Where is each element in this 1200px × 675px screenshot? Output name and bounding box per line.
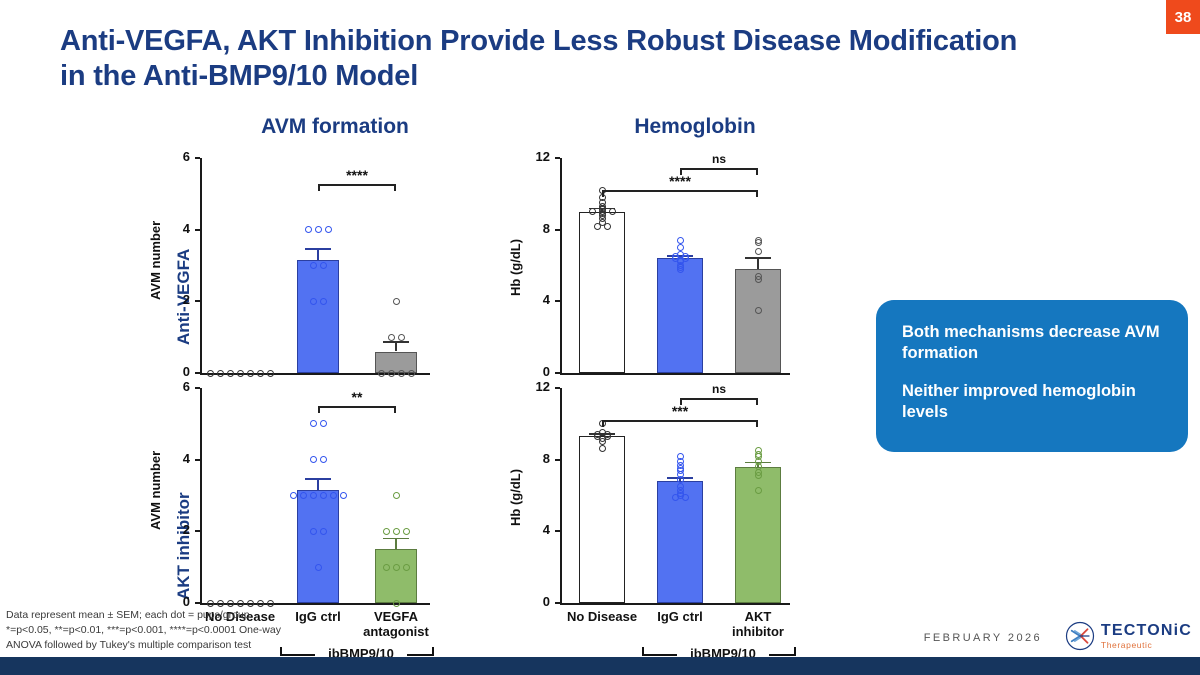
data-point [393, 600, 400, 607]
data-point [408, 370, 415, 377]
data-point [320, 456, 327, 463]
data-point [755, 239, 762, 246]
data-point [599, 438, 606, 445]
data-point [310, 528, 317, 535]
y-tick [555, 300, 560, 302]
data-point [217, 370, 224, 377]
data-point [393, 528, 400, 535]
data-point [237, 600, 244, 607]
y-axis-title: Hb (g/dL) [508, 469, 523, 526]
footer-bar [0, 657, 1200, 675]
column-title-avm: AVM formation [200, 115, 470, 139]
data-point [257, 600, 264, 607]
data-point [755, 487, 762, 494]
data-point [677, 476, 684, 483]
bar-akt-inhibitor [375, 549, 417, 603]
data-point [310, 492, 317, 499]
y-tick [555, 387, 560, 389]
data-point [378, 370, 385, 377]
error-bar-cap [745, 257, 771, 259]
data-point [383, 564, 390, 571]
data-point [388, 370, 395, 377]
page-title: Anti-VEGFA, AKT Inhibition Provide Less … [60, 24, 1020, 95]
data-point [267, 600, 274, 607]
data-point [290, 492, 297, 499]
footnote-line-3: ANOVA followed by Tukey's multiple compa… [6, 638, 281, 653]
data-point [320, 528, 327, 535]
bar-igg-ctrl [297, 260, 339, 373]
y-tick [555, 372, 560, 374]
data-point [393, 298, 400, 305]
data-point [682, 494, 689, 501]
chart-avm-formation-anti-vegfa: 0246AVM number **** [200, 158, 430, 379]
data-point [315, 226, 322, 233]
data-point [594, 223, 601, 230]
y-tick [555, 229, 560, 231]
data-point [300, 492, 307, 499]
footer-date: FEBRUARY 2026 [924, 632, 1042, 644]
y-tick [195, 229, 200, 231]
y-tick [195, 372, 200, 374]
y-axis [200, 158, 202, 373]
y-tick-label: 6 [168, 379, 190, 394]
significance-label: ns [680, 152, 758, 166]
error-bar [317, 248, 319, 260]
y-tick-label: 0 [528, 594, 550, 609]
bar-no-disease [579, 212, 625, 373]
data-point [755, 307, 762, 314]
data-point [599, 445, 606, 452]
error-bar-cap [305, 248, 331, 250]
data-point [755, 276, 762, 283]
data-point [388, 334, 395, 341]
y-tick [195, 157, 200, 159]
data-point [310, 298, 317, 305]
data-point [677, 266, 684, 273]
data-point [398, 370, 405, 377]
data-point [257, 370, 264, 377]
data-point [589, 208, 596, 215]
callout-line-1: Both mechanisms decrease AVM formation [902, 322, 1162, 364]
x-axis-label: AKTinhibitor [706, 610, 810, 640]
data-point [755, 472, 762, 479]
y-tick [195, 387, 200, 389]
y-tick-label: 6 [168, 149, 190, 164]
y-tick [195, 602, 200, 604]
logo-main-text: TECTONiC [1101, 623, 1192, 639]
data-point [393, 492, 400, 499]
y-tick-label: 0 [168, 594, 190, 609]
y-tick-label: 2 [168, 522, 190, 537]
data-point [677, 237, 684, 244]
y-tick [195, 300, 200, 302]
data-point [227, 600, 234, 607]
data-point [207, 370, 214, 377]
row-label-akt-inhibitor: AKT inhibitor [174, 492, 194, 600]
callout-box: Both mechanisms decrease AVM formation N… [876, 300, 1188, 452]
data-point [383, 528, 390, 535]
error-bar [317, 478, 319, 490]
y-tick [555, 157, 560, 159]
chart-hemoglobin-anti-vegfa: 04812Hb (g/dL) **** ns [560, 158, 790, 379]
data-point [320, 492, 327, 499]
x-axis [200, 373, 430, 375]
data-point [267, 370, 274, 377]
logo-text: TECTONiC Therapeutic [1101, 623, 1192, 650]
error-bar-cap [383, 341, 409, 343]
company-logo: TECTONiC Therapeutic [1065, 621, 1192, 651]
y-tick-label: 0 [168, 364, 190, 379]
data-point [237, 370, 244, 377]
error-bar-cap [383, 538, 409, 540]
data-point [320, 262, 327, 269]
y-axis [200, 388, 202, 603]
data-point [330, 492, 337, 499]
data-point [604, 223, 611, 230]
data-point [755, 248, 762, 255]
significance-label: **** [318, 167, 396, 183]
data-point [310, 456, 317, 463]
callout-line-2: Neither improved hemoglobin levels [902, 381, 1162, 423]
bar-igg-ctrl [657, 258, 703, 373]
y-tick-label: 8 [528, 451, 550, 466]
significance-label: **** [602, 173, 758, 189]
data-point [207, 600, 214, 607]
chart-hemoglobin-akt-inhibitor: 04812Hb (g/dL) *** nsNo DiseaseIgG ctrlA… [560, 388, 790, 673]
y-tick-label: 2 [168, 292, 190, 307]
data-point [393, 564, 400, 571]
data-point [403, 528, 410, 535]
data-point [340, 492, 347, 499]
bar-no-disease [579, 436, 625, 603]
y-tick-label: 12 [528, 379, 550, 394]
bar-vegfa-antagonist [735, 269, 781, 373]
bar-igg-ctrl [297, 490, 339, 603]
tectonic-mark-icon [1065, 621, 1095, 651]
footnote-line-2: *=p<0.05, **=p<0.01, ***=p<0.001, ****=p… [6, 623, 281, 638]
data-point [609, 208, 616, 215]
y-tick-label: 4 [168, 451, 190, 466]
y-axis [560, 158, 562, 373]
data-point [217, 600, 224, 607]
y-tick-label: 8 [528, 221, 550, 236]
y-axis-title: AVM number [148, 450, 163, 529]
y-tick-label: 4 [168, 221, 190, 236]
slide-root: 38 Anti-VEGFA, AKT Inhibition Provide Le… [0, 0, 1200, 675]
y-tick-label: 12 [528, 149, 550, 164]
data-point [320, 298, 327, 305]
data-point [310, 420, 317, 427]
data-point [315, 564, 322, 571]
data-point [398, 334, 405, 341]
data-point [305, 226, 312, 233]
y-tick [555, 530, 560, 532]
data-point [325, 226, 332, 233]
x-axis [560, 373, 790, 375]
y-tick-label: 4 [528, 522, 550, 537]
error-bar [757, 257, 759, 269]
data-point [247, 370, 254, 377]
y-tick-label: 0 [528, 364, 550, 379]
y-tick-label: 4 [528, 292, 550, 307]
data-point [310, 262, 317, 269]
bar-igg-ctrl [657, 481, 703, 603]
y-tick [195, 530, 200, 532]
y-axis-title: AVM number [148, 220, 163, 299]
data-point [320, 420, 327, 427]
significance-label: ** [318, 389, 396, 405]
y-tick [195, 459, 200, 461]
column-title-hemoglobin: Hemoglobin [560, 115, 830, 139]
y-tick [555, 459, 560, 461]
x-axis [560, 603, 790, 605]
error-bar-cap [305, 478, 331, 480]
error-bar [395, 538, 397, 549]
data-point [227, 370, 234, 377]
significance-label: ns [680, 382, 758, 396]
footnote-line-1: Data represent mean ± SEM; each dot = pu… [6, 608, 281, 623]
y-axis-title: Hb (g/dL) [508, 239, 523, 296]
x-axis-label: VEGFAantagonist [344, 610, 448, 640]
footnote: Data represent mean ± SEM; each dot = pu… [6, 608, 281, 653]
significance-label: *** [602, 403, 758, 419]
data-point [247, 600, 254, 607]
slide-number-badge: 38 [1166, 0, 1200, 34]
logo-sub-text: Therapeutic [1101, 641, 1192, 650]
y-tick [555, 602, 560, 604]
data-point [677, 244, 684, 251]
data-point [672, 494, 679, 501]
y-axis [560, 388, 562, 603]
data-point [403, 564, 410, 571]
